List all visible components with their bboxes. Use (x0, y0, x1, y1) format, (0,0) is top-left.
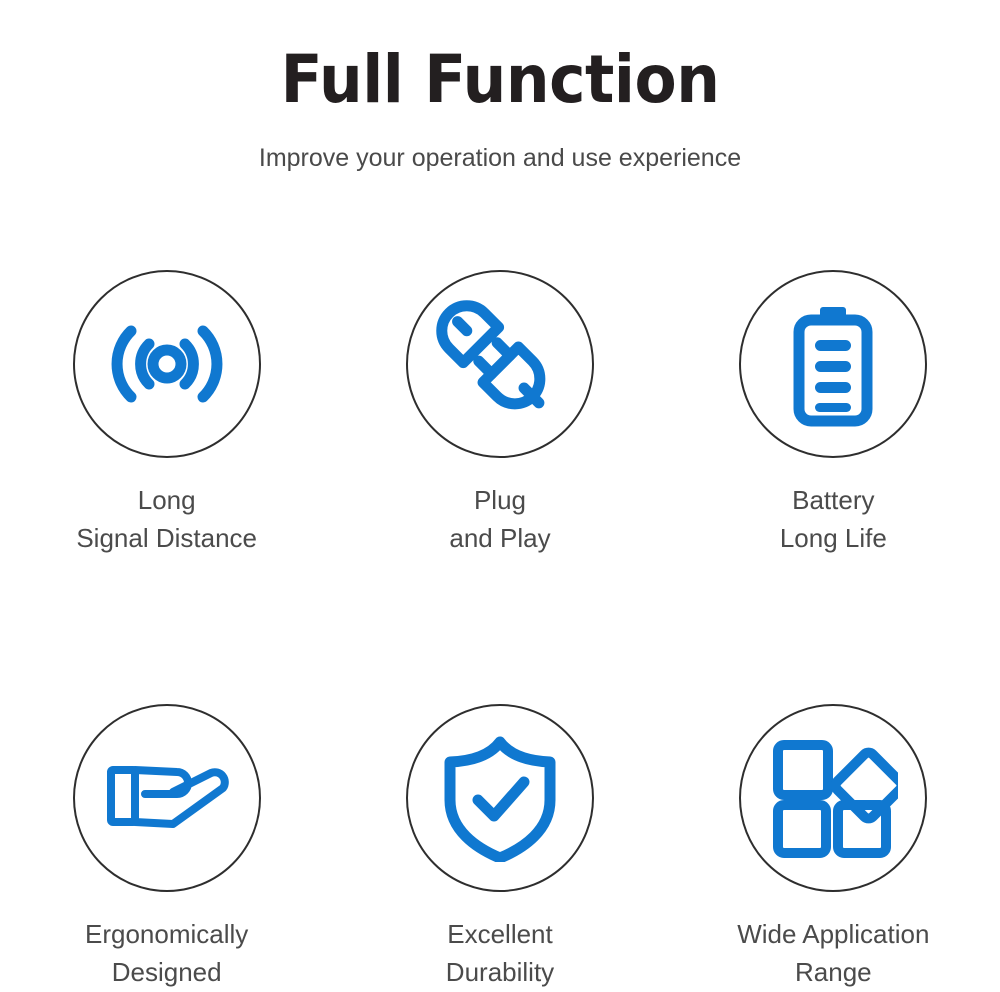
page-header: Full Function Improve your operation and… (0, 0, 1000, 173)
feature-item-long-signal-distance: Long Signal Distance (0, 270, 333, 557)
feature-caption: Long Signal Distance (76, 482, 257, 557)
battery-full-icon (768, 299, 898, 429)
feature-caption: Battery Long Life (780, 482, 887, 557)
feature-grid: Long Signal Distance (0, 270, 1000, 992)
shield-check-icon (436, 734, 564, 862)
feature-caption: Plug and Play (449, 482, 550, 557)
feature-icon-circle-wrapper-battery: Battery Long Life (667, 270, 1000, 557)
feature-icon-circle (406, 704, 594, 892)
plug-and-socket-icon (435, 299, 565, 429)
page-subtitle: Improve your operation and use experienc… (0, 117, 1000, 173)
feature-caption: Ergonomically Designed (85, 916, 248, 991)
feature-icon-circle (739, 270, 927, 458)
page-title: Full Function (35, 0, 965, 117)
feature-icon-circle (739, 704, 927, 892)
signal-waves-icon (102, 299, 232, 429)
open-hand-icon (99, 730, 235, 866)
feature-icon-circle (73, 270, 261, 458)
feature-caption: Wide Application Range (737, 916, 929, 991)
feature-highlights-page: Full Function Improve your operation and… (0, 0, 1000, 949)
feature-caption: Excellent Durability (446, 916, 554, 991)
feature-icon-circle (73, 704, 261, 892)
feature-icon-circle (406, 270, 594, 458)
feature-item-plug-and-play: Plug and Play (333, 270, 666, 557)
squares-diamond-icon (768, 733, 898, 863)
